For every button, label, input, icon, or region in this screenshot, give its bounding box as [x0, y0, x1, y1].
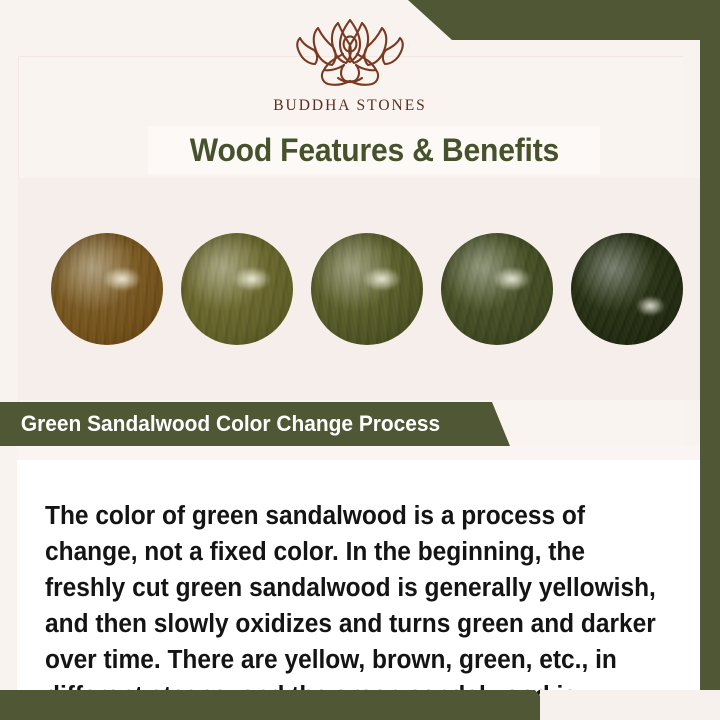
lotus-meditation-icon — [270, 14, 430, 95]
section-banner-label: Green Sandalwood Color Change Process — [0, 411, 440, 437]
wood-bead-stage-1 — [51, 233, 163, 345]
bead-shading — [181, 233, 293, 345]
bead-highlight — [363, 267, 401, 292]
bead-highlight — [493, 267, 531, 292]
headline-band: Wood Features & Benefits — [148, 126, 600, 174]
bead-highlight — [233, 267, 271, 292]
description-card: The color of green sandalwood is a proce… — [17, 446, 700, 700]
bead-shading — [51, 233, 163, 345]
bead-gallery — [18, 178, 700, 400]
bead-highlight — [103, 267, 141, 292]
wood-bead-stage-2 — [181, 233, 293, 345]
description-paragraph: The color of green sandalwood is a proce… — [45, 498, 659, 720]
wood-bead-stage-4 — [441, 233, 553, 345]
wood-bead-stage-5 — [571, 233, 683, 345]
bottom-cream-block — [540, 690, 720, 720]
brand-name: BUDDHA STONES — [273, 97, 427, 115]
bead-row — [18, 178, 700, 400]
bead-shading — [571, 233, 683, 345]
bead-highlight — [636, 296, 665, 316]
brand-header: BUDDHA STONES — [0, 14, 700, 124]
page-title: Wood Features & Benefits — [189, 132, 558, 169]
wood-bead-stage-3 — [311, 233, 423, 345]
section-banner: Green Sandalwood Color Change Process — [0, 402, 520, 446]
bead-shading — [311, 233, 423, 345]
card-top-tint — [17, 446, 700, 460]
poster-root: BUDDHA STONES Wood Features & Benefits — [0, 0, 720, 720]
bottom-green-bar — [0, 690, 560, 720]
bead-shading — [441, 233, 553, 345]
